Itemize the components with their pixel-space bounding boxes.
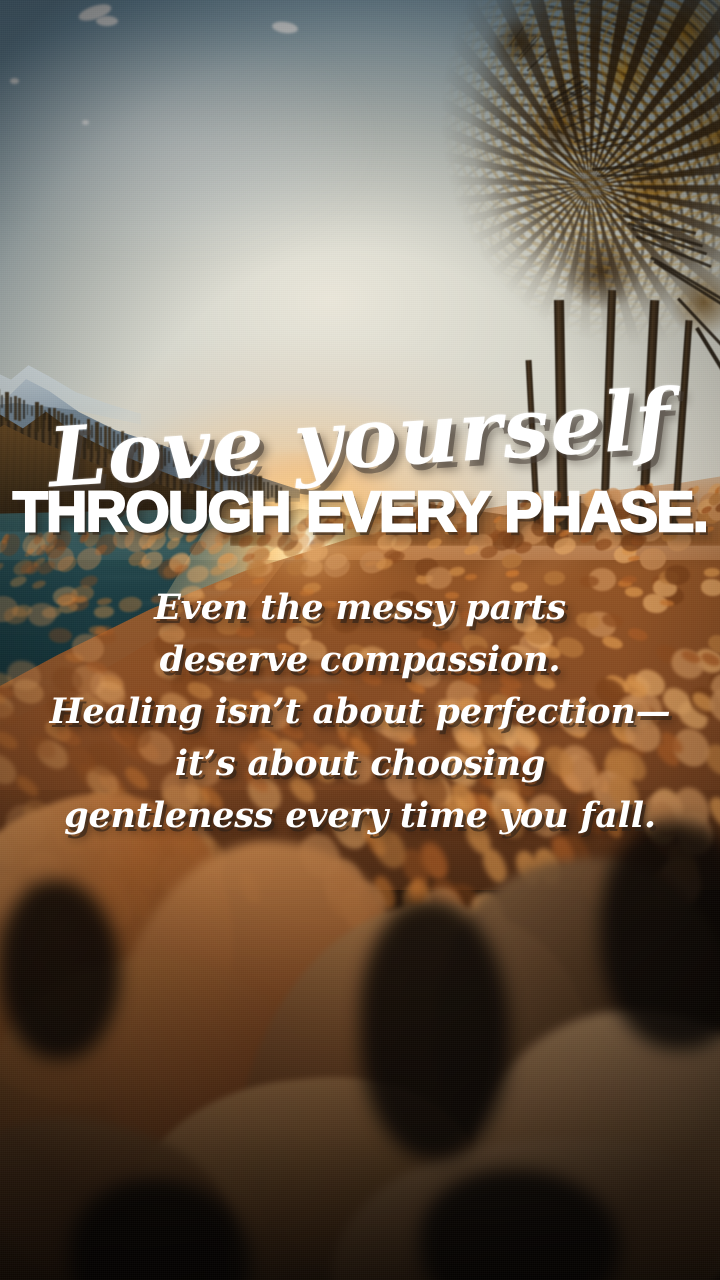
body-line: Even the messy parts	[0, 582, 720, 634]
quote-card: Love yourself THROUGH EVERY PHASE. Even …	[0, 0, 720, 1280]
body-line: deserve compassion.	[0, 634, 720, 686]
body-line: it’s about choosing	[0, 738, 720, 790]
body-copy: Even the messy parts deserve compassion.…	[0, 582, 720, 842]
body-line: gentleness every time you fall.	[0, 790, 720, 842]
text-overlay: Love yourself THROUGH EVERY PHASE. Even …	[0, 0, 720, 1280]
main-headline: THROUGH EVERY PHASE.	[0, 484, 720, 541]
body-line: Healing isn’t about perfection—	[0, 686, 720, 738]
